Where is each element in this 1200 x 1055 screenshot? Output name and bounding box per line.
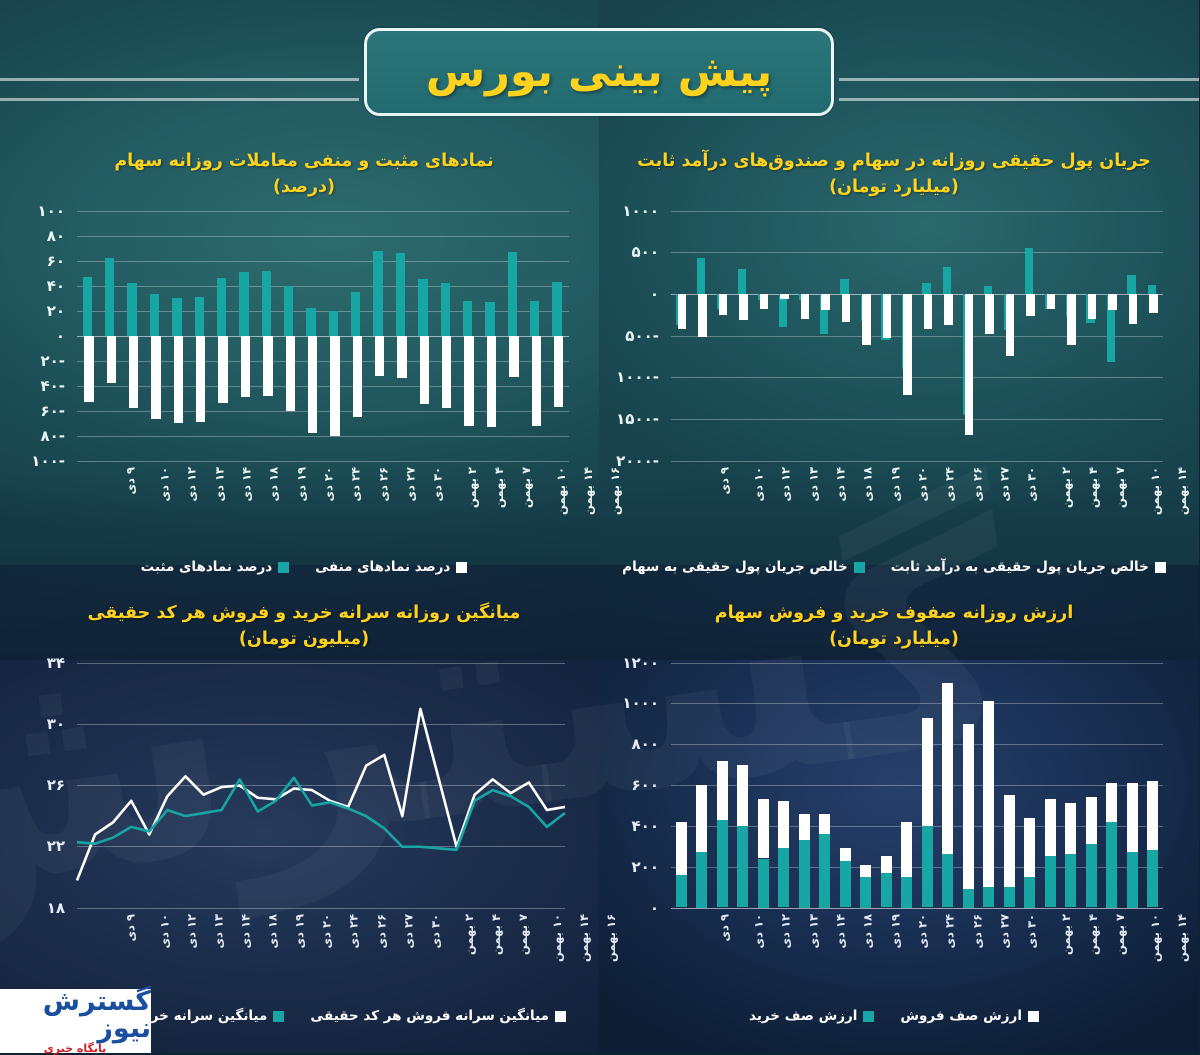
bar xyxy=(841,279,850,294)
bar-sell xyxy=(1046,799,1057,856)
bar xyxy=(442,283,451,336)
bar xyxy=(443,336,452,409)
chart-title-text: میانگین روزانه سرانه خرید و فروش هر کد ح… xyxy=(89,603,522,623)
bar-buy xyxy=(697,852,708,907)
line-path xyxy=(78,777,566,849)
bar xyxy=(1109,294,1118,311)
bar xyxy=(904,294,913,396)
bar xyxy=(1026,248,1035,294)
x-axis-tick-label: ۲۰ دی xyxy=(323,467,337,502)
legend-item: ارزش صف فروش xyxy=(901,1008,1040,1024)
x-axis-tick-label: ۲۰ دی xyxy=(917,914,931,949)
chart-subtitle-text: (میلیون تومان) xyxy=(40,626,570,652)
bar-buy xyxy=(800,840,811,907)
x-axis-tick-label: ۲۶ دی xyxy=(971,914,985,949)
bar-buy xyxy=(841,861,852,908)
bar xyxy=(218,278,227,336)
bar xyxy=(1149,285,1158,294)
site-logo: گسترش نیوز پایگاه خبری xyxy=(0,989,152,1053)
bar-sell xyxy=(1128,783,1139,852)
x-axis-tick-label: ۲۴ دی xyxy=(350,467,364,502)
legend-swatch xyxy=(1156,562,1167,573)
bar xyxy=(555,336,564,407)
legend-label: ارزش صف خرید xyxy=(750,1008,858,1024)
bar-sell xyxy=(800,814,811,841)
x-axis-tick-label: ۱۴ بهمن xyxy=(1176,467,1190,515)
x-axis-tick-label: ۱۸ دی xyxy=(267,914,281,949)
chart-title-text: نمادهای مثبت و منفی معاملات روزانه سهام xyxy=(115,151,494,171)
x-axis-tick-label: ۹ دی xyxy=(718,467,732,494)
x-axis-tick-label: ۱۰ دی xyxy=(158,914,172,949)
x-axis-labels: ۹ دی۱۰ دی۱۲ دی۱۳ دی۱۴ دی۱۸ دی۱۹ دی۲۰ دی۲… xyxy=(600,912,1190,970)
x-axis-tick-label: ۲۶ دی xyxy=(971,467,985,502)
chart-panel-per-capita-buy-sell: میانگین روزانه سرانه خرید و فروش هر کد ح… xyxy=(10,600,600,1040)
bar-buy xyxy=(1128,852,1139,907)
bar-sell xyxy=(1066,803,1077,854)
bar xyxy=(263,271,272,336)
logo-name: گسترش نیوز xyxy=(0,988,152,1042)
legend-item: خالص جریان پول حقیقی به سهام xyxy=(623,559,866,575)
gridline xyxy=(672,461,1164,462)
chart-panel-real-money-flow: جریان پول حقیقی روزانه در سهام و صندوق‌ه… xyxy=(600,148,1190,558)
bar-sell xyxy=(677,822,688,875)
bar xyxy=(863,294,872,346)
bar-sell xyxy=(820,814,831,834)
bar-sell xyxy=(984,701,995,887)
x-axis-tick-label: ۱۹ دی xyxy=(294,914,308,949)
bar-buy xyxy=(759,859,770,908)
bar xyxy=(464,301,473,336)
x-axis-tick-label: ۱۴ دی xyxy=(835,914,849,949)
x-axis-labels: ۹ دی۱۰ دی۱۲ دی۱۳ دی۱۴ دی۱۸ دی۱۹ دی۲۰ دی۲… xyxy=(10,465,600,521)
bar xyxy=(698,258,707,294)
x-axis-tick-label: ۱۴ بهمن xyxy=(578,914,592,962)
x-axis-tick-label: ۷ بهمن xyxy=(1114,914,1128,955)
bar xyxy=(1089,294,1098,319)
x-axis-tick-label: ۲۷ دی xyxy=(999,914,1013,949)
legend-item: درصد نمادهای منفی xyxy=(316,559,468,575)
x-axis-tick-label: ۱۰ دی xyxy=(753,467,767,502)
bar xyxy=(486,302,495,336)
bar-sell xyxy=(943,683,954,855)
x-axis-tick-label: ۹ دی xyxy=(718,914,732,941)
bar xyxy=(720,294,729,316)
bar xyxy=(966,294,975,436)
bar xyxy=(128,283,137,336)
x-axis-tick-label: ۱۳ دی xyxy=(807,914,821,949)
bar-buy xyxy=(1046,856,1057,907)
x-axis-tick-label: ۳۰ دی xyxy=(432,467,446,502)
x-axis-tick-label: ۲۶ دی xyxy=(377,467,391,502)
bar xyxy=(307,308,316,336)
page-title: پیش بینی بورس xyxy=(365,28,835,116)
legend-swatch xyxy=(279,562,290,573)
x-axis-tick-label: ۳۰ دی xyxy=(1026,467,1040,502)
legend-label: خالص جریان پول حقیقی به سهام xyxy=(623,559,849,575)
x-axis-tick-label: ۱۲ دی xyxy=(186,467,200,502)
legend-label: درصد نمادهای مثبت xyxy=(142,559,274,575)
bar xyxy=(945,294,954,326)
bar-buy xyxy=(882,873,893,908)
bar xyxy=(240,272,249,336)
x-axis-tick-label: ۱۲ دی xyxy=(780,467,794,502)
bar-sell xyxy=(718,761,729,820)
x-axis-tick-label: ۱۳ دی xyxy=(213,467,227,502)
chart-title: ارزش روزانه صفوف خرید و فروش سهام (میلیا… xyxy=(600,600,1190,653)
legend-item: درصد نمادهای مثبت xyxy=(142,559,291,575)
bar-buy xyxy=(718,820,729,908)
plot-area: ۱۰۰۰۵۰۰۰-۵۰۰-۱۰۰۰-۱۵۰۰-۲۰۰۰ xyxy=(600,211,1190,461)
bar xyxy=(740,294,749,321)
bar xyxy=(985,286,994,294)
x-axis-tick-label: ۴ بهمن xyxy=(1087,914,1101,955)
bar xyxy=(84,277,93,336)
bar-sell xyxy=(861,865,872,877)
bar xyxy=(488,336,497,427)
x-axis-tick-label: ۷ بهمن xyxy=(517,914,531,955)
bar xyxy=(398,336,407,379)
bar xyxy=(331,336,340,436)
chart-title: نمادهای مثبت و منفی معاملات روزانه سهام … xyxy=(10,148,600,201)
bar-buy xyxy=(923,826,934,908)
chart-panel-order-queue-value: ارزش روزانه صفوف خرید و فروش سهام (میلیا… xyxy=(600,600,1190,1040)
bar xyxy=(1150,294,1159,313)
bar-buy xyxy=(964,889,975,907)
legend-label: میانگین سرانه فروش هر کد حقیقی xyxy=(311,1008,550,1024)
x-axis-tick-label: ۱۴ بهمن xyxy=(1176,914,1190,962)
bar-sell xyxy=(882,856,893,872)
x-axis-tick-label: ۲۶ دی xyxy=(375,914,389,949)
bar xyxy=(925,294,934,329)
bar xyxy=(108,336,117,384)
x-axis-tick-label: ۳۰ دی xyxy=(1026,914,1040,949)
bar xyxy=(944,267,953,294)
bar-sell xyxy=(841,848,852,860)
x-axis-tick-label: ۲۷ دی xyxy=(405,467,419,502)
header-rail-left-top xyxy=(0,78,360,81)
legend-swatch xyxy=(1029,1011,1040,1022)
bar xyxy=(781,294,790,299)
x-axis-tick-label: ۹ دی xyxy=(124,914,138,941)
chart-subtitle-text: (درصد) xyxy=(40,174,570,200)
x-axis-tick-label: ۱۰ دی xyxy=(753,914,767,949)
bar xyxy=(330,311,339,336)
bar xyxy=(884,294,893,338)
bar xyxy=(761,294,770,309)
bar xyxy=(1007,294,1016,357)
bar-sell xyxy=(1107,783,1118,822)
bar-buy xyxy=(677,875,688,908)
bar xyxy=(465,336,474,426)
x-axis-tick-label: ۱۰ بهمن xyxy=(555,467,569,515)
legend-item: میانگین سرانه فروش هر کد حقیقی xyxy=(311,1008,567,1024)
legend-swatch xyxy=(556,1011,567,1022)
bar xyxy=(173,298,182,336)
bar xyxy=(152,336,161,420)
bar xyxy=(533,336,542,426)
bar xyxy=(1128,275,1137,294)
line-series-group xyxy=(10,663,600,908)
x-axis-tick-label: ۱۹ دی xyxy=(889,467,903,502)
header: پیش بینی بورس xyxy=(0,28,1200,120)
bar xyxy=(1068,294,1077,346)
x-axis-tick-label: ۱۴ دی xyxy=(241,467,255,502)
bar-buy xyxy=(1087,844,1098,907)
bar xyxy=(419,279,428,335)
x-axis-tick-label: ۱۴ دی xyxy=(240,914,254,949)
bar xyxy=(285,286,294,336)
x-axis-tick-label: ۲۴ دی xyxy=(348,914,362,949)
bar-buy xyxy=(738,826,749,908)
legend-swatch xyxy=(864,1011,875,1022)
bar xyxy=(196,297,205,336)
bar xyxy=(309,336,318,434)
bar-sell xyxy=(1005,795,1016,887)
bar xyxy=(130,336,139,409)
bar xyxy=(264,336,273,396)
x-axis-tick-label: ۹ دی xyxy=(124,467,138,494)
line-path xyxy=(78,708,566,880)
x-axis-tick-label: ۱۳ دی xyxy=(807,467,821,502)
x-axis-tick-label: ۲۷ دی xyxy=(402,914,416,949)
bar xyxy=(397,253,406,336)
x-axis-tick-label: ۱۰ بهمن xyxy=(551,914,565,962)
x-axis-tick-label: ۱۹ دی xyxy=(889,914,903,949)
legend-label: ارزش صف فروش xyxy=(901,1008,1023,1024)
chart-legend: ارزش صف فروشارزش صف خرید xyxy=(600,1008,1190,1024)
chart-title: جریان پول حقیقی روزانه در سهام و صندوق‌ه… xyxy=(600,148,1190,201)
bar-sell xyxy=(902,822,913,877)
bar-buy xyxy=(779,848,790,907)
x-axis-tick-label: ۲۴ دی xyxy=(944,467,958,502)
bar xyxy=(923,283,932,294)
bar-sell xyxy=(697,785,708,852)
bar-buy xyxy=(1066,854,1077,907)
bar xyxy=(1048,294,1057,309)
chart-title-text: جریان پول حقیقی روزانه در سهام و صندوق‌ه… xyxy=(638,151,1152,171)
bar-group xyxy=(600,211,1190,461)
x-axis-tick-label: ۱۸ دی xyxy=(862,467,876,502)
bar xyxy=(986,294,995,334)
gridline xyxy=(78,461,570,462)
x-axis-labels: ۹ دی۱۰ دی۱۲ دی۱۳ دی۱۴ دی۱۸ دی۱۹ دی۲۰ دی۲… xyxy=(10,912,600,970)
x-axis-tick-label: ۱۲ دی xyxy=(185,914,199,949)
x-axis-tick-label: ۱۸ دی xyxy=(268,467,282,502)
bar xyxy=(287,336,296,411)
bar-sell xyxy=(759,799,770,858)
header-rail-right-bottom xyxy=(840,98,1200,101)
bar xyxy=(106,258,115,336)
legend-item: ارزش صف خرید xyxy=(750,1008,875,1024)
bar-sell xyxy=(1087,797,1098,844)
zero-axis-line xyxy=(672,908,1164,909)
x-axis-tick-label: ۱۲ دی xyxy=(780,914,794,949)
legend-label: درصد نمادهای منفی xyxy=(316,559,451,575)
x-axis-tick-label: ۱۰ بهمن xyxy=(1149,914,1163,962)
bar-buy xyxy=(1107,822,1118,908)
bar xyxy=(739,269,748,294)
bar xyxy=(85,336,94,402)
gridline xyxy=(78,908,566,909)
page-title-text: پیش بینی بورس xyxy=(427,47,773,97)
bar xyxy=(531,301,540,336)
bar xyxy=(421,336,430,405)
bar-buy xyxy=(861,877,872,908)
bar xyxy=(509,252,518,336)
header-rail-right-top xyxy=(840,78,1200,81)
x-axis-tick-label: ۱۹ دی xyxy=(295,467,309,502)
bar-sell xyxy=(964,724,975,889)
chart-subtitle-text: (میلیارد تومان) xyxy=(630,174,1160,200)
bar-sell xyxy=(779,801,790,848)
x-axis-tick-label: ۱۳ دی xyxy=(212,914,226,949)
bar xyxy=(1130,294,1139,324)
legend-swatch xyxy=(457,562,468,573)
plot-area: ۳۴۳۰۲۶۲۲۱۸ xyxy=(10,663,600,908)
plot-area: ۱۲۰۰۱۰۰۰۸۰۰۶۰۰۴۰۰۲۰۰۰ xyxy=(600,663,1190,908)
bar-group xyxy=(600,663,1190,908)
chart-subtitle-text: (میلیارد تومان) xyxy=(630,626,1160,652)
bar xyxy=(374,251,383,336)
bar xyxy=(197,336,206,422)
bar xyxy=(376,336,385,376)
bar-sell xyxy=(923,718,934,826)
chart-legend: درصد نمادهای منفیدرصد نمادهای مثبت xyxy=(10,559,600,575)
bar xyxy=(242,336,251,397)
x-axis-tick-label: ۳۰ دی xyxy=(429,914,443,949)
x-axis-tick-label: ۷ بهمن xyxy=(520,467,534,508)
bar xyxy=(219,336,228,404)
plot-area: ۱۰۰۸۰۶۰۴۰۲۰۰-۲۰-۴۰-۶۰-۸۰-۱۰۰ xyxy=(10,211,600,461)
chart-title: میانگین روزانه سرانه خرید و فروش هر کد ح… xyxy=(10,600,600,653)
x-axis-tick-label: ۱۴ بهمن xyxy=(582,467,596,515)
x-axis-tick-label: ۱۸ دی xyxy=(862,914,876,949)
bar-sell xyxy=(1025,818,1036,877)
bar xyxy=(802,294,811,319)
bar xyxy=(843,294,852,322)
chart-title-text: ارزش روزانه صفوف خرید و فروش سهام xyxy=(716,603,1074,623)
x-axis-tick-label: ۴ بهمن xyxy=(493,467,507,508)
bar xyxy=(699,294,708,337)
bar-buy xyxy=(943,854,954,907)
chart-panel-symbols-positive-negative: نمادهای مثبت و منفی معاملات روزانه سهام … xyxy=(10,148,600,558)
x-axis-tick-label: ۱۰ بهمن xyxy=(1149,467,1163,515)
bar xyxy=(510,336,519,377)
bar-sell xyxy=(738,765,749,826)
bar xyxy=(1027,294,1036,317)
bar-buy xyxy=(1005,887,1016,907)
bar-buy xyxy=(1025,877,1036,908)
x-axis-tick-label: ۱۰ دی xyxy=(159,467,173,502)
x-axis-tick-label: ۲ بهمن xyxy=(1060,914,1074,955)
header-rail-left-bottom xyxy=(0,98,360,101)
bar-group xyxy=(10,211,600,461)
x-axis-tick-label: ۴ بهمن xyxy=(490,914,504,955)
legend-swatch xyxy=(274,1011,285,1022)
bar-buy xyxy=(820,834,831,908)
bar xyxy=(679,294,688,329)
bar xyxy=(354,336,363,417)
bar-buy xyxy=(984,887,995,907)
bar-sell xyxy=(1148,781,1159,850)
x-axis-tick-label: ۲۰ دی xyxy=(321,914,335,949)
x-axis-tick-label: ۲ بهمن xyxy=(466,467,480,508)
bar xyxy=(352,292,361,336)
bar-buy xyxy=(1148,850,1159,907)
legend-label: خالص جریان پول حقیقی به درآمد ثابت xyxy=(892,559,1150,575)
x-axis-tick-label: ۲ بهمن xyxy=(463,914,477,955)
x-axis-tick-label: ۲۴ دی xyxy=(944,914,958,949)
x-axis-tick-label: ۴ بهمن xyxy=(1087,467,1101,508)
bar xyxy=(151,294,160,335)
bar xyxy=(175,336,184,424)
x-axis-tick-label: ۱۴ دی xyxy=(835,467,849,502)
bar-buy xyxy=(902,877,913,908)
x-axis-labels: ۹ دی۱۰ دی۱۲ دی۱۳ دی۱۴ دی۱۸ دی۱۹ دی۲۰ دی۲… xyxy=(600,465,1190,521)
x-axis-tick-label: ۲۰ دی xyxy=(917,467,931,502)
logo-tagline: پایگاه خبری xyxy=(45,1043,108,1054)
legend-swatch xyxy=(855,562,866,573)
x-axis-tick-label: ۷ بهمن xyxy=(1114,467,1128,508)
x-axis-tick-label: ۲۷ دی xyxy=(999,467,1013,502)
chart-legend: خالص جریان پول حقیقی به درآمد ثابتخالص ج… xyxy=(600,559,1190,575)
bar xyxy=(822,294,831,311)
bar xyxy=(553,282,562,336)
x-axis-tick-label: ۲ بهمن xyxy=(1060,467,1074,508)
legend-item: خالص جریان پول حقیقی به درآمد ثابت xyxy=(892,559,1167,575)
